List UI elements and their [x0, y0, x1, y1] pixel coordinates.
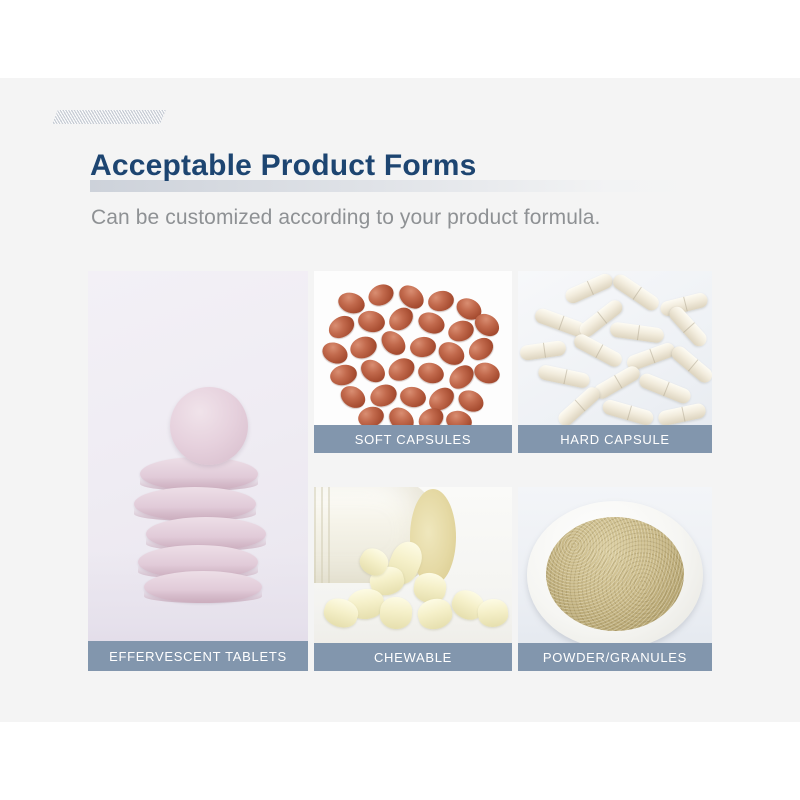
- bottle-ridges: [314, 487, 334, 583]
- top-tablet-disc: [170, 387, 248, 465]
- gallery-tile-soft-capsules[interactable]: SOFT CAPSULES: [314, 271, 512, 453]
- tile-caption-soft-capsules: SOFT CAPSULES: [314, 425, 512, 453]
- gallery-tile-effervescent-tablets[interactable]: EFFERVESCENT TABLETS: [88, 271, 308, 671]
- gallery-tile-chewable[interactable]: CHEWABLE: [314, 487, 512, 671]
- tile-caption-chewable: CHEWABLE: [314, 643, 512, 671]
- gallery-tile-hard-capsule[interactable]: HARD CAPSULE: [518, 271, 712, 453]
- product-forms-gallery: EFFERVESCENT TABLETS: [88, 271, 712, 671]
- page-title: Acceptable Product Forms: [90, 149, 477, 183]
- tablet-disc: [144, 571, 262, 603]
- hatched-slab-decoration-icon: [52, 110, 166, 124]
- tablet-disc: [134, 487, 256, 521]
- effervescent-tablets-photo: [88, 271, 308, 671]
- granule-texture: [546, 517, 684, 631]
- tile-caption-powder-granules: POWDER/GRANULES: [518, 643, 712, 671]
- product-forms-banner: Acceptable Product Forms Can be customiz…: [0, 0, 800, 800]
- tile-caption-effervescent-tablets: EFFERVESCENT TABLETS: [88, 641, 308, 671]
- tile-caption-hard-capsule: HARD CAPSULE: [518, 425, 712, 453]
- page-subtitle: Can be customized according to your prod…: [91, 206, 600, 230]
- gallery-tile-powder-granules[interactable]: POWDER/GRANULES: [518, 487, 712, 671]
